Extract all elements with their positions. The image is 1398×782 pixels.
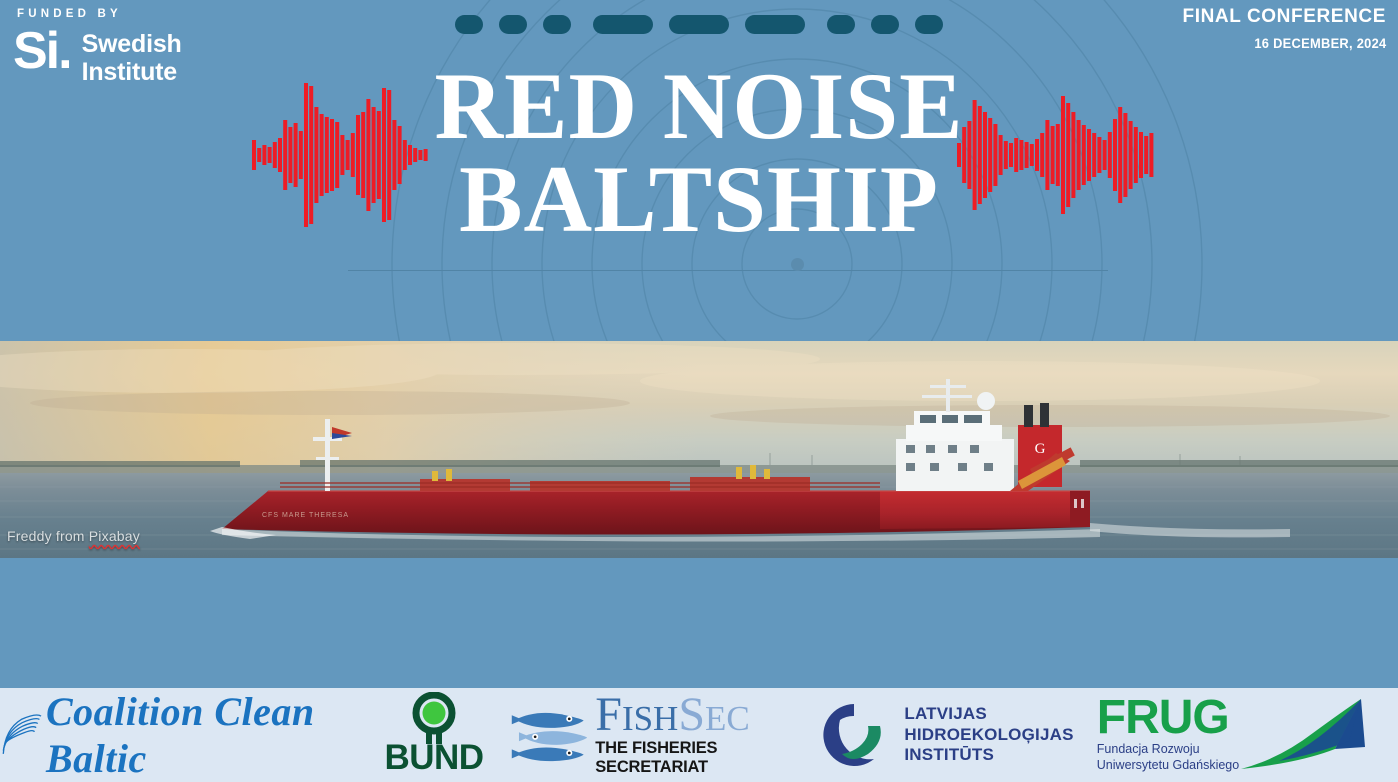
fishsec-tagline: THE FISHERIES SECRETARIAT — [595, 739, 810, 777]
title-divider — [348, 270, 1108, 271]
morse-group-2 — [593, 15, 805, 34]
hero-photo-tanker-ship: G CFS MARE THERESA Freddy from Pixabay — [0, 341, 1398, 558]
partner-logo-bund: BUND — [358, 688, 510, 782]
photo-credit-prefix: Freddy from — [7, 528, 89, 544]
morse-dash — [745, 15, 805, 34]
audio-waveform-left — [252, 50, 429, 260]
morse-dot — [915, 15, 943, 34]
morse-code-decoration — [0, 15, 1398, 34]
morse-dot — [827, 15, 855, 34]
morse-group-1 — [455, 15, 571, 34]
fishsec-fish-icon — [510, 704, 587, 766]
ccb-wordmark: Coalition Clean Baltic — [46, 688, 358, 782]
lhei-swirl-icon — [818, 702, 890, 768]
conference-date: 16 DECEMBER, 2024 — [1199, 35, 1386, 51]
project-title: RED NOISE BALTSHIP — [0, 60, 1398, 246]
title-line-1: RED NOISE — [0, 60, 1398, 153]
morse-dot — [499, 15, 527, 34]
svg-text:G: G — [1035, 441, 1046, 457]
morse-dot — [455, 15, 483, 34]
photo-credit: Freddy from Pixabay — [7, 528, 140, 544]
audio-waveform-right — [957, 50, 1155, 260]
arc-origin-dot — [791, 258, 804, 271]
partner-logo-coalition-clean-baltic: Coalition Clean Baltic — [0, 688, 358, 782]
partner-logo-fishsec: FISHSEC THE FISHERIES SECRETARIAT — [510, 688, 810, 782]
frug-wordmark: FRUG — [1097, 696, 1239, 739]
lhei-wordmark: LATVIJAS HIDROEKOLOĢIJAS INSTITŪTS — [904, 704, 1073, 766]
fishsec-f: F — [595, 688, 622, 741]
fishsec-ish: ISH — [622, 699, 678, 738]
partner-logo-frug: FRUG Fundacja Rozwoju Uniwersytetu Gdańs… — [1082, 688, 1382, 782]
fishsec-wordmark: FISHSEC — [595, 693, 810, 737]
frug-subtitle: Fundacja Rozwoju Uniwersytetu Gdańskiego — [1097, 742, 1239, 773]
morse-dot — [543, 15, 571, 34]
svg-text:CFS MARE THERESA: CFS MARE THERESA — [262, 512, 349, 519]
frug-sail-icon — [1239, 697, 1367, 773]
morse-dot — [871, 15, 899, 34]
conference-slide: FUNDED BY Si. Swedish Institute FINAL CO… — [0, 0, 1398, 782]
partner-logo-latvijas-hidroekologijas-instituts: LATVIJAS HIDROEKOLOĢIJAS INSTITŪTS — [810, 688, 1082, 782]
bund-wordmark: BUND — [384, 738, 483, 778]
fishsec-ec: EC — [705, 699, 750, 738]
partner-logo-strip: Coalition Clean Baltic BUND — [0, 688, 1398, 782]
morse-group-3 — [827, 15, 943, 34]
bund-sprout-icon — [397, 692, 471, 744]
fishsec-s: S — [678, 688, 705, 741]
title-line-2: BALTSHIP — [0, 153, 1398, 246]
morse-dash — [669, 15, 729, 34]
ccb-wave-icon — [0, 706, 46, 764]
morse-dash — [593, 15, 653, 34]
photo-credit-source: Pixabay — [89, 528, 140, 544]
